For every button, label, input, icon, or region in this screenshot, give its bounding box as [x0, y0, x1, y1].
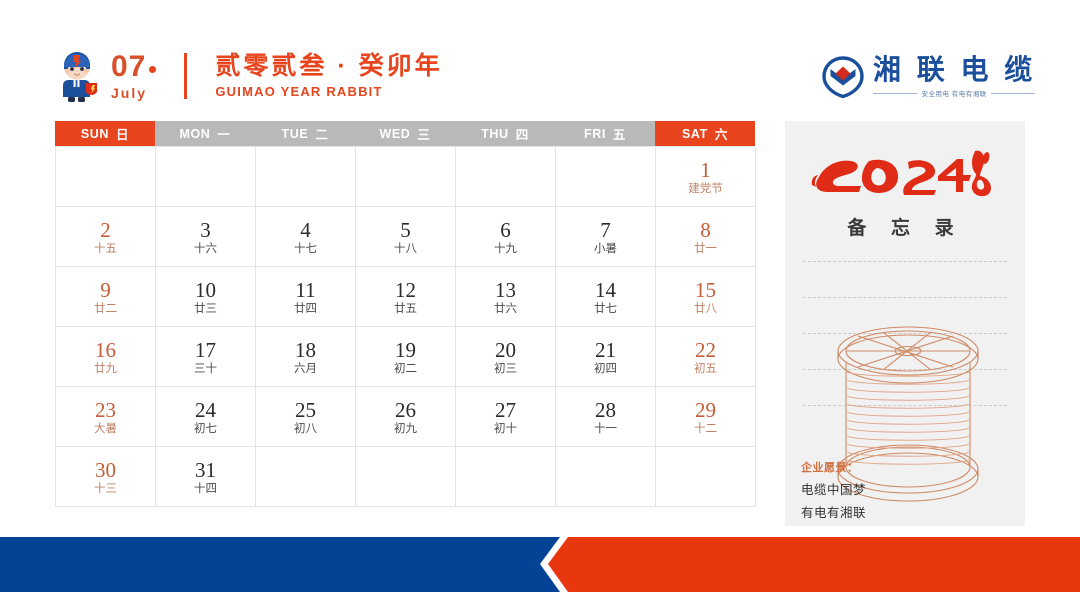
company-name: 湘 联 电 缆	[873, 56, 1035, 84]
day-number: 18	[295, 339, 316, 361]
day-number: 4	[300, 219, 311, 241]
day-number: 12	[395, 279, 416, 301]
day-number: 22	[695, 339, 716, 361]
day-cell[interactable]: 2十五	[56, 207, 156, 267]
weekday-en: WED	[379, 127, 410, 141]
calendar-page: 07 July 贰零贰叁 · 癸卯年 GUIMAO YEAR RABBIT	[0, 0, 1080, 592]
lunar-label: 廿四	[294, 302, 317, 315]
weekday-en: THU	[481, 127, 509, 141]
day-grid: 1建党节2十五3十六4十七5十八6十九7小暑8廿一9廿二10廿三11廿四12廿五…	[55, 146, 755, 507]
day-number: 8	[700, 219, 711, 241]
day-cell[interactable]: 3十六	[156, 207, 256, 267]
day-number: 14	[595, 279, 616, 301]
weekday-header-tue: TUE二	[255, 121, 355, 146]
day-number: 11	[295, 279, 315, 301]
day-cell[interactable]: 15廿八	[656, 267, 756, 327]
day-number: 3	[200, 219, 211, 241]
day-cell-empty	[56, 147, 156, 207]
day-cell-empty	[456, 147, 556, 207]
year-artwork-2023	[785, 135, 1025, 205]
lunar-label: 初二	[394, 362, 417, 375]
lunar-label: 十七	[294, 242, 317, 255]
weekday-cn: 四	[516, 124, 529, 143]
weekday-cn: 三	[417, 124, 430, 143]
lunar-label: 廿二	[94, 302, 117, 315]
month-brand-group: 07 July 贰零贰叁 · 癸卯年 GUIMAO YEAR RABBIT	[55, 50, 443, 102]
lunar-label: 廿五	[394, 302, 417, 315]
day-cell[interactable]: 14廿七	[556, 267, 656, 327]
day-cell[interactable]: 8廿一	[656, 207, 756, 267]
lunar-label: 大暑	[94, 422, 117, 435]
lunar-label: 廿九	[94, 362, 117, 375]
memo-panel: 备 忘 录	[785, 121, 1025, 526]
day-cell[interactable]: 25初八	[256, 387, 356, 447]
lunar-label: 十五	[94, 242, 117, 255]
month-number: 07	[111, 52, 146, 82]
weekday-header-mon: MON一	[155, 121, 255, 146]
weekday-en: FRI	[584, 127, 606, 141]
company-tagline-row: 安全用电 有电有湘联	[873, 88, 1035, 98]
weekday-cn: 一	[217, 124, 230, 143]
weekday-cn: 六	[715, 124, 728, 143]
lunar-label: 十四	[194, 482, 217, 495]
day-cell[interactable]: 24初七	[156, 387, 256, 447]
day-number: 31	[195, 459, 216, 481]
day-cell[interactable]: 30十三	[56, 447, 156, 507]
day-number: 28	[595, 399, 616, 421]
weekday-en: MON	[179, 127, 210, 141]
day-number: 16	[95, 339, 116, 361]
day-number: 24	[195, 399, 216, 421]
day-cell-empty	[456, 447, 556, 507]
electrician-mascot-icon	[55, 50, 101, 102]
banner-left-block	[0, 537, 560, 592]
day-cell-empty	[556, 147, 656, 207]
lunar-label: 初九	[394, 422, 417, 435]
day-cell[interactable]: 5十八	[356, 207, 456, 267]
day-number: 26	[395, 399, 416, 421]
day-number: 20	[495, 339, 516, 361]
day-cell[interactable]: 4十七	[256, 207, 356, 267]
day-number: 13	[495, 279, 516, 301]
day-number: 27	[495, 399, 516, 421]
lunar-label: 初三	[494, 362, 517, 375]
weekday-header-wed: WED三	[355, 121, 455, 146]
vision-line-1: 电缆中国梦	[801, 479, 866, 498]
weekday-header-sun: SUN日	[55, 121, 155, 146]
lunar-label: 初四	[594, 362, 617, 375]
lunar-label: 十一	[594, 422, 617, 435]
lunar-label: 初十	[494, 422, 517, 435]
day-cell[interactable]: 18六月	[256, 327, 356, 387]
day-cell[interactable]: 12廿五	[356, 267, 456, 327]
day-cell[interactable]: 23大暑	[56, 387, 156, 447]
day-number: 5	[400, 219, 411, 241]
day-cell[interactable]: 20初三	[456, 327, 556, 387]
page-header: 07 July 贰零贰叁 · 癸卯年 GUIMAO YEAR RABBIT	[0, 0, 1080, 118]
lunar-label: 三十	[194, 362, 217, 375]
day-number: 21	[595, 339, 616, 361]
xianglian-diamond-logo-icon	[822, 56, 864, 98]
day-cell[interactable]: 1建党节	[656, 147, 756, 207]
header-divider	[184, 53, 187, 99]
tagline-rule-left	[873, 93, 917, 94]
month-english: July	[111, 86, 147, 100]
lunar-label: 初五	[694, 362, 717, 375]
day-cell-empty	[156, 147, 256, 207]
memo-note-line[interactable]	[803, 297, 1007, 299]
day-cell[interactable]: 17三十	[156, 327, 256, 387]
day-cell[interactable]: 7小暑	[556, 207, 656, 267]
day-cell-empty	[256, 447, 356, 507]
day-cell-empty	[356, 447, 456, 507]
weekday-cn: 五	[613, 124, 626, 143]
company-logo-group: 湘 联 电 缆 安全用电 有电有湘联	[822, 56, 1035, 98]
chinese-year-block: 贰零贰叁 · 癸卯年 GUIMAO YEAR RABBIT	[215, 53, 442, 100]
day-number: 9	[100, 279, 111, 301]
lunar-label: 廿八	[694, 302, 717, 315]
day-cell-empty	[256, 147, 356, 207]
calendar-table: SUN日MON一TUE二WED三THU四FRI五SAT六 1建党节2十五3十六4…	[55, 121, 755, 507]
lunar-label: 廿七	[594, 302, 617, 315]
day-cell[interactable]: 6十九	[456, 207, 556, 267]
bottom-banner	[0, 537, 1080, 592]
lunar-label: 廿三	[194, 302, 217, 315]
day-number: 1	[700, 159, 711, 181]
weekday-header-row: SUN日MON一TUE二WED三THU四FRI五SAT六	[55, 121, 755, 146]
logo-text-wrap: 湘 联 电 缆 安全用电 有电有湘联	[873, 56, 1035, 98]
weekday-cn: 日	[116, 124, 129, 143]
day-number: 19	[395, 339, 416, 361]
lunar-label: 十八	[394, 242, 417, 255]
day-number: 29	[695, 399, 716, 421]
lunar-label: 廿一	[694, 242, 717, 255]
lunar-label: 六月	[294, 362, 317, 375]
day-cell[interactable]: 29十二	[656, 387, 756, 447]
day-number: 25	[295, 399, 316, 421]
lunar-label: 十六	[194, 242, 217, 255]
lunar-label: 十九	[494, 242, 517, 255]
day-number: 2	[100, 219, 111, 241]
month-number-group: 07	[111, 52, 156, 82]
memo-note-line[interactable]	[803, 261, 1007, 263]
lunar-label: 廿六	[494, 302, 517, 315]
day-number: 10	[195, 279, 216, 301]
chinese-year-english-label: GUIMAO YEAR RABBIT	[215, 84, 442, 99]
day-number: 15	[695, 279, 716, 301]
day-cell[interactable]: 21初四	[556, 327, 656, 387]
day-number: 7	[600, 219, 611, 241]
weekday-header-sat: SAT六	[655, 121, 755, 146]
day-cell-empty	[656, 447, 756, 507]
lunar-label: 十三	[94, 482, 117, 495]
month-dot-icon	[149, 66, 156, 73]
day-number: 17	[195, 339, 216, 361]
day-cell[interactable]: 9廿二	[56, 267, 156, 327]
company-tagline: 安全用电 有电有湘联	[921, 88, 986, 98]
vision-line-2: 有电有湘联	[801, 502, 866, 521]
day-cell[interactable]: 26初九	[356, 387, 456, 447]
weekday-cn: 二	[315, 124, 328, 143]
day-cell[interactable]: 11廿四	[256, 267, 356, 327]
tagline-rule-right	[991, 93, 1035, 94]
day-cell[interactable]: 27初十	[456, 387, 556, 447]
memo-title: 备 忘 录	[785, 213, 1025, 240]
lunar-label: 建党节	[688, 182, 723, 195]
weekday-en: SAT	[682, 127, 708, 141]
weekday-en: SUN	[81, 127, 109, 141]
month-block: 07 July	[111, 52, 156, 100]
day-number: 6	[500, 219, 511, 241]
day-cell-empty	[356, 147, 456, 207]
day-cell[interactable]: 10廿三	[156, 267, 256, 327]
chinese-year-label: 贰零贰叁 · 癸卯年	[215, 53, 442, 81]
day-cell[interactable]: 31十四	[156, 447, 256, 507]
day-cell[interactable]: 22初五	[656, 327, 756, 387]
banner-right-block	[548, 537, 1080, 592]
day-cell[interactable]: 13廿六	[456, 267, 556, 327]
vision-label: 企业愿景：	[801, 459, 866, 475]
day-cell[interactable]: 19初二	[356, 327, 456, 387]
lunar-label: 初七	[194, 422, 217, 435]
weekday-header-fri: FRI五	[555, 121, 655, 146]
day-cell-empty	[556, 447, 656, 507]
lunar-label: 小暑	[594, 242, 617, 255]
corporate-vision-block: 企业愿景： 电缆中国梦 有电有湘联	[801, 459, 866, 521]
day-cell[interactable]: 28十一	[556, 387, 656, 447]
lunar-label: 十二	[694, 422, 717, 435]
day-number: 30	[95, 459, 116, 481]
lunar-label: 初八	[294, 422, 317, 435]
weekday-header-thu: THU四	[455, 121, 555, 146]
day-number: 23	[95, 399, 116, 421]
day-cell[interactable]: 16廿九	[56, 327, 156, 387]
weekday-en: TUE	[282, 127, 309, 141]
